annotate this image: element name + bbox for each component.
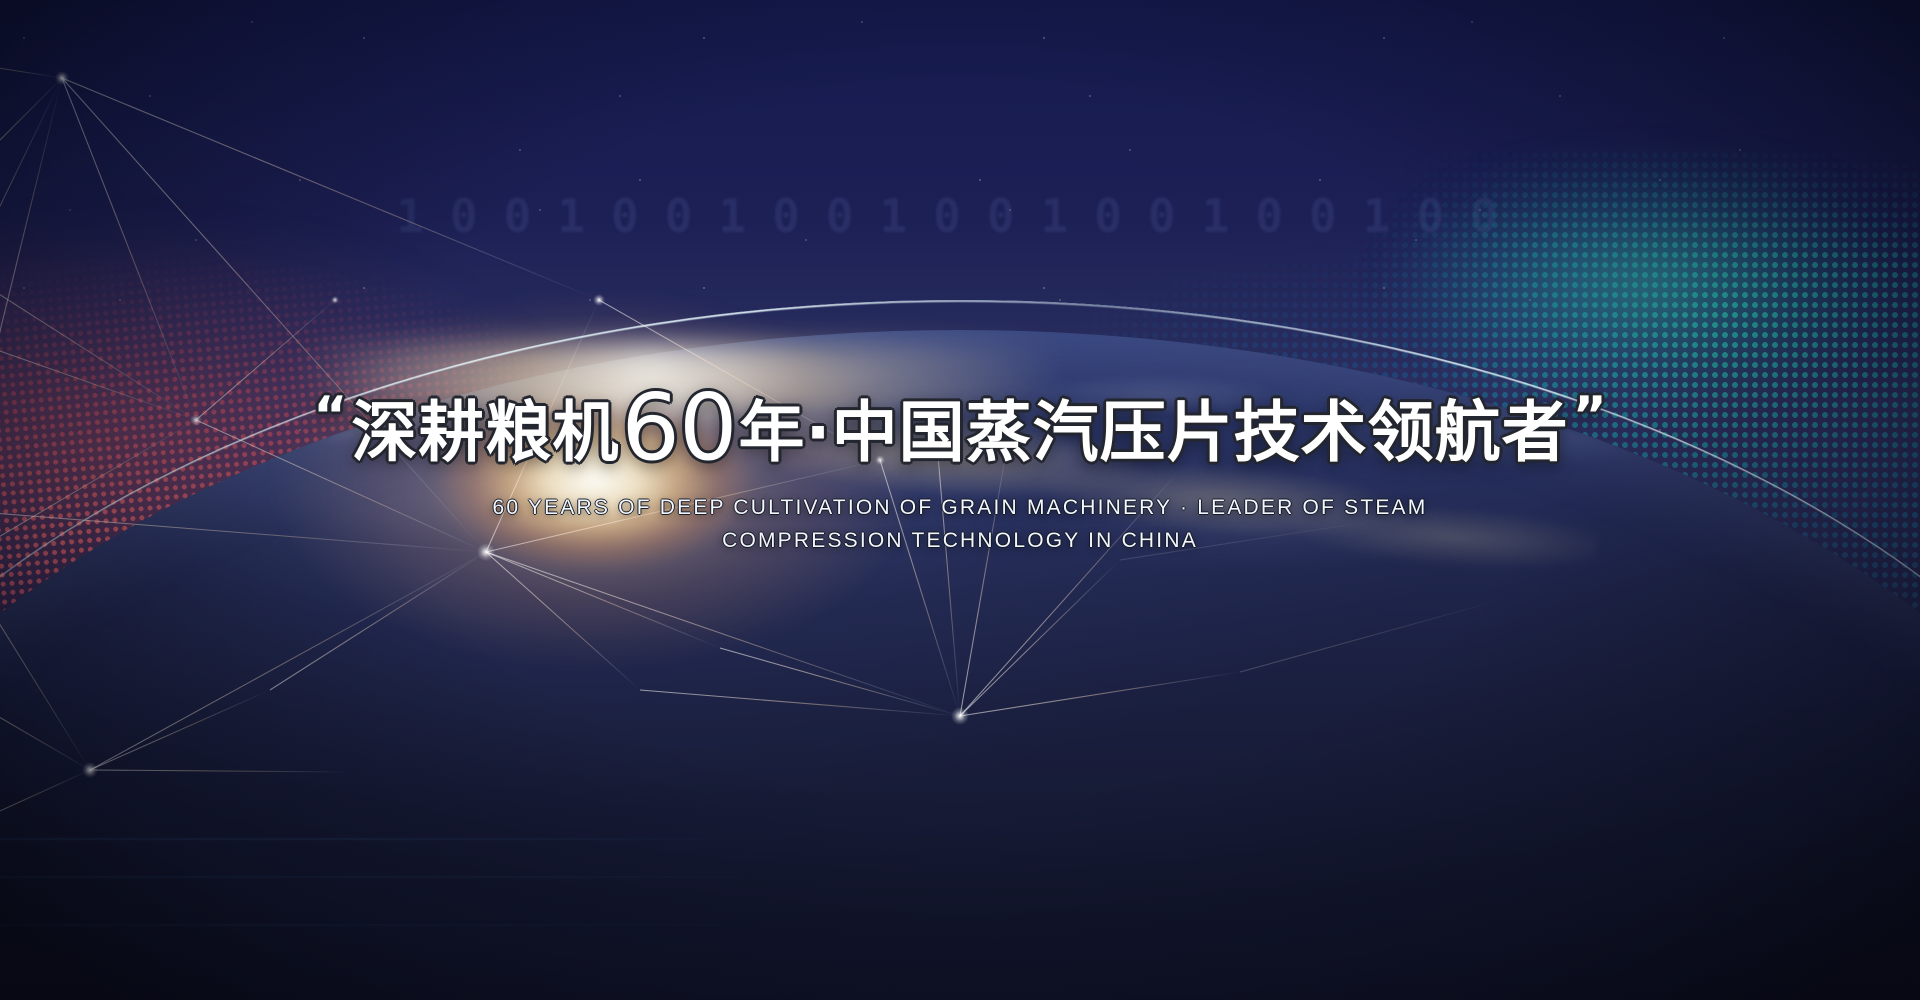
banner-text-block: “ 深耕粮机 60 年·中国蒸汽压片技术领航者 ” 60 YEARS OF DE…: [0, 378, 1920, 557]
headline: “ 深耕粮机 60 年·中国蒸汽压片技术领航者 ”: [309, 378, 1611, 470]
headline-part1: 深耕粮机: [351, 400, 619, 466]
headline-part2: 年·中国蒸汽压片技术领航者: [739, 400, 1569, 466]
binary-ghost-digits-decor: 100100100100100100100: [0, 188, 1920, 244]
horizontal-scan-streaks: [0, 820, 820, 990]
headline-open-quote: “: [313, 390, 347, 442]
subtitle: 60 YEARS OF DEEP CULTIVATION OF GRAIN MA…: [493, 492, 1428, 557]
headline-number-60: 60: [621, 382, 736, 474]
subtitle-line-2: COMPRESSION TECHNOLOGY IN CHINA: [493, 525, 1428, 558]
banner-stage: 100100100100100100100: [0, 0, 1920, 1000]
subtitle-line-1: 60 YEARS OF DEEP CULTIVATION OF GRAIN MA…: [493, 492, 1428, 525]
headline-close-quote: ”: [1573, 390, 1607, 442]
